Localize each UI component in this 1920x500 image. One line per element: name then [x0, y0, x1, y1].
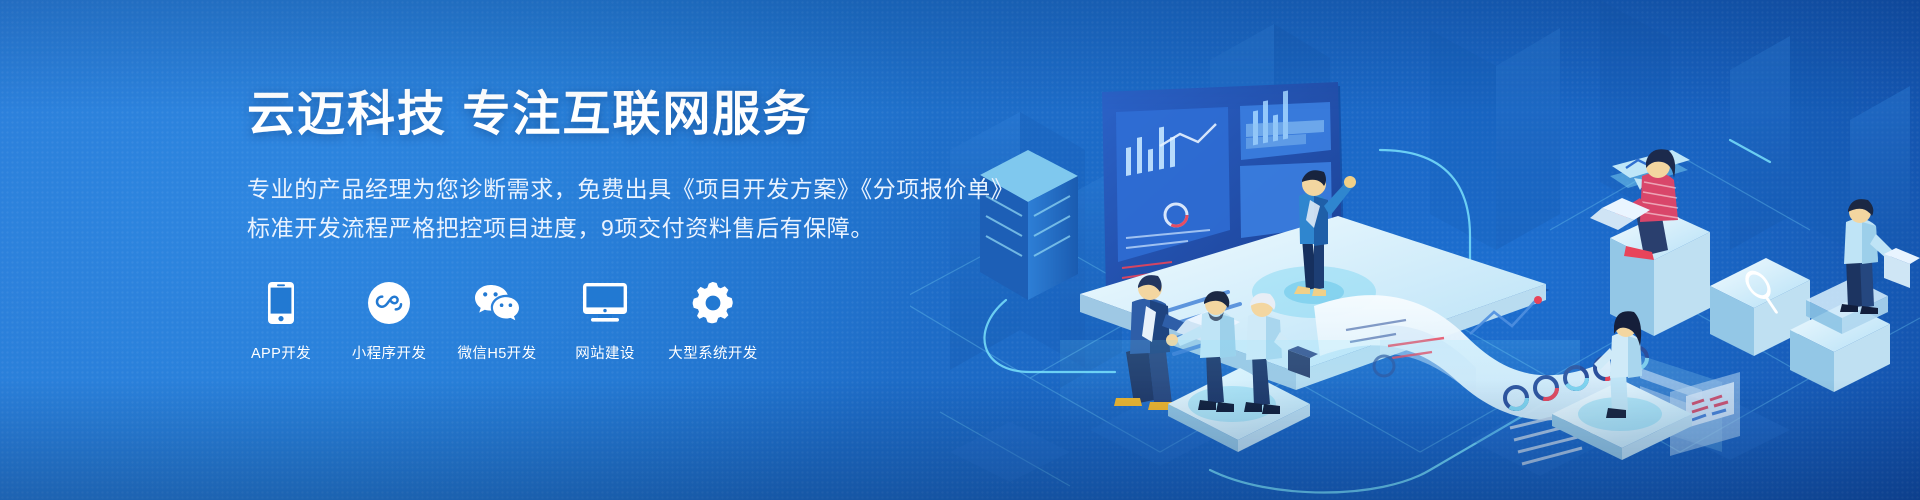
service-label-miniprogram: 小程序开发 [352, 342, 427, 363]
mobile-phone-icon [268, 280, 294, 326]
gear-icon [692, 280, 734, 326]
service-list: APP开发 小程序开发 [250, 280, 744, 363]
mini-program-icon [368, 280, 410, 326]
wechat-icon [473, 280, 521, 326]
hero-copy: 云迈科技 专注互联网服务 专业的产品经理为您诊断需求，免费出具《项目开发方案》《… [247, 86, 1197, 249]
service-item-system[interactable]: 大型系统开发 [682, 280, 744, 363]
service-label-wechat: 微信H5开发 [458, 342, 537, 363]
hero-banner: 云迈科技 专注互联网服务 专业的产品经理为您诊断需求，免费出具《项目开发方案》《… [0, 0, 1920, 500]
hero-subtitle: 专业的产品经理为您诊断需求，免费出具《项目开发方案》《分项报价单》 标准开发流程… [247, 170, 1197, 249]
service-item-website[interactable]: 网站建设 [574, 280, 636, 363]
subtitle-line-1: 专业的产品经理为您诊断需求，免费出具《项目开发方案》《分项报价单》 [247, 170, 1197, 210]
subtitle-line-2: 标准开发流程严格把控项目进度，9项交付资料售后有保障。 [247, 209, 1197, 249]
service-item-app[interactable]: APP开发 [250, 280, 312, 363]
service-label-website: 网站建设 [575, 342, 635, 363]
service-label-system: 大型系统开发 [668, 342, 757, 363]
service-label-app: APP开发 [251, 342, 311, 363]
service-item-miniprogram[interactable]: 小程序开发 [358, 280, 420, 363]
page-title: 云迈科技 专注互联网服务 [247, 86, 1197, 144]
monitor-icon [583, 280, 627, 326]
service-item-wechat[interactable]: 微信H5开发 [466, 280, 528, 363]
hero-illustration [910, 0, 1920, 500]
